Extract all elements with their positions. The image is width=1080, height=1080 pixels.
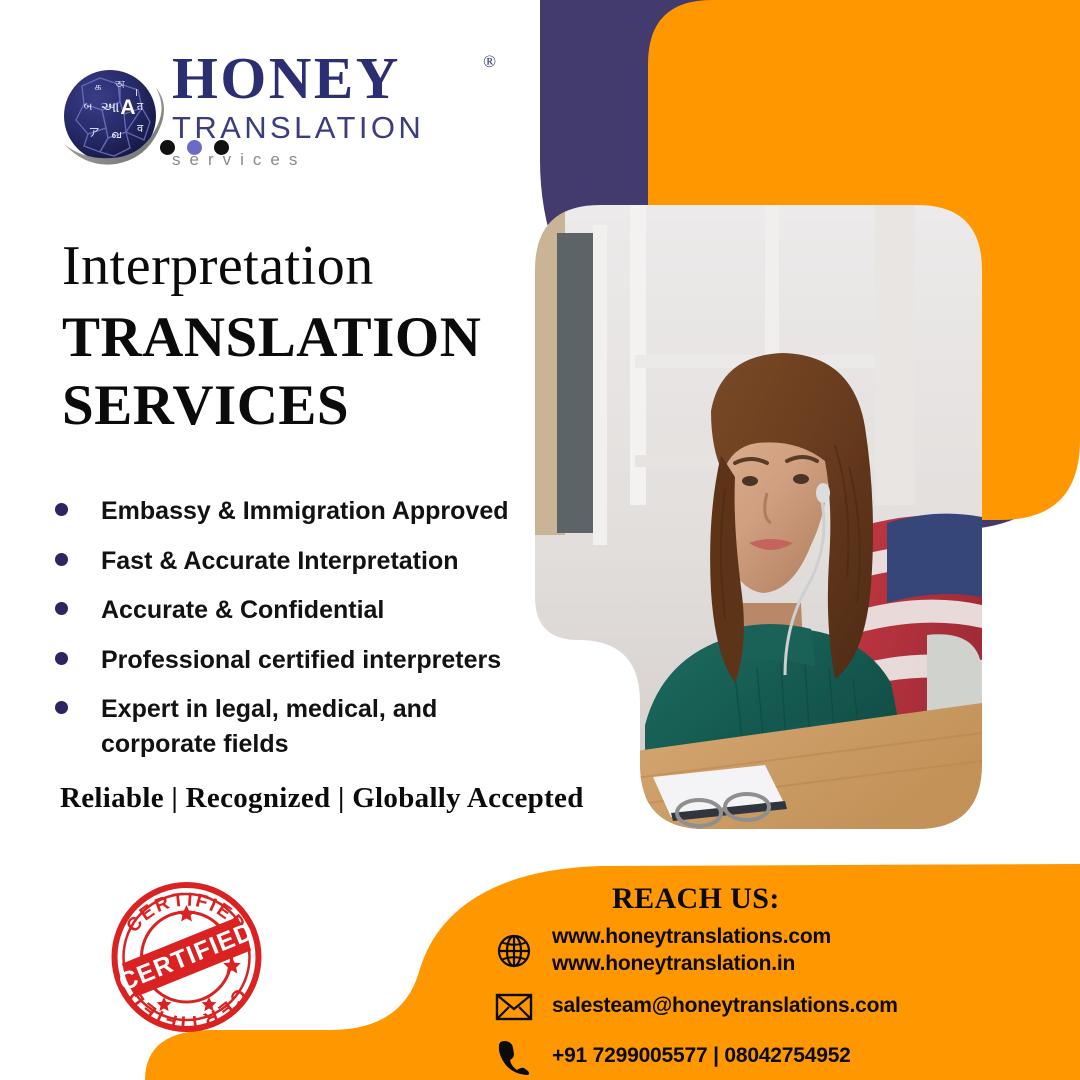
svg-text:க: க [94, 80, 101, 93]
tagline: Reliable | Recognized | Globally Accepte… [60, 782, 584, 815]
feature-text: Embassy & Immigration Approved [101, 494, 509, 529]
page-title: Interpretation TRANSLATION SERVICES [62, 236, 532, 439]
globe-icon [492, 930, 536, 972]
svg-text:A: A [120, 96, 135, 119]
headline-bold-lines: TRANSLATION SERVICES [62, 304, 532, 439]
svg-text:ア: ア [89, 126, 100, 139]
contact-rows: www.honeytranslations.com www.honeytrans… [492, 924, 1052, 1080]
list-item: Embassy & Immigration Approved [55, 494, 535, 529]
list-item: Fast & Accurate Interpretation [55, 544, 535, 579]
phone-values: +91 7299005577 | 08042754952 [552, 1043, 851, 1070]
bullet-dot-icon [55, 652, 68, 665]
poster-canvas: க অ । બ આ त ア ഖ व A HONEY ® TRANSLATION … [0, 0, 1080, 1080]
list-item: Professional certified interpreters [55, 643, 535, 678]
brand-name-primary: HONEY [172, 48, 401, 108]
website-values: www.honeytranslations.com www.honeytrans… [552, 924, 831, 978]
phone-line-1[interactable]: +91 7299005577 | 08042754952 [552, 1043, 851, 1070]
email-line-1[interactable]: salesteam@honeytranslations.com [552, 993, 898, 1020]
headline-script-line: Interpretation [62, 236, 532, 296]
list-item: Accurate & Confidential [55, 593, 535, 628]
feature-text: Professional certified interpreters [101, 643, 501, 678]
contact-row-email[interactable]: salesteam@honeytranslations.com [492, 986, 1052, 1028]
svg-text:व: व [137, 122, 144, 135]
bullet-dot-icon [55, 503, 68, 516]
website-line-1[interactable]: www.honeytranslations.com [552, 924, 831, 951]
svg-text:આ: આ [100, 98, 119, 116]
globe-languages-icon: க অ । બ આ त ア ഖ व A [52, 52, 174, 174]
svg-text:બ: બ [84, 100, 93, 113]
headline-line-2: SERVICES [62, 372, 532, 439]
contact-title: REACH US: [612, 882, 780, 916]
contact-row-phone[interactable]: +91 7299005577 | 08042754952 [492, 1036, 1052, 1078]
svg-text:অ: অ [114, 78, 125, 91]
feature-list: Embassy & Immigration Approved Fast & Ac… [55, 494, 535, 776]
bullet-dot-icon [55, 602, 68, 615]
list-item: Expert in legal, medical, and corporate … [55, 692, 535, 761]
headline-line-1: TRANSLATION [62, 304, 532, 371]
envelope-icon [492, 986, 536, 1028]
website-line-2[interactable]: www.honeytranslation.in [552, 951, 831, 978]
svg-text:ഖ: ഖ [111, 128, 122, 141]
bullet-dot-icon [55, 553, 68, 566]
registered-mark-icon: ® [483, 52, 496, 72]
feature-text: Fast & Accurate Interpretation [101, 544, 458, 579]
phone-icon [492, 1036, 536, 1078]
contact-row-website[interactable]: www.honeytranslations.com www.honeytrans… [492, 924, 1052, 978]
hero-photo-image [535, 205, 982, 829]
dot-black-left [160, 140, 175, 155]
feature-text: Accurate & Confidential [101, 593, 384, 628]
logo-dot-separator [160, 140, 229, 155]
feature-text: Expert in legal, medical, and corporate … [101, 692, 461, 761]
contact-panel: REACH US: www.honeytranslations.com www [400, 860, 1080, 1080]
brand-logo[interactable]: க অ । બ આ त ア ഖ व A HONEY ® TRANSLATION … [52, 46, 472, 216]
dot-purple-middle [187, 140, 202, 155]
dot-black-right [214, 140, 229, 155]
svg-text:त: त [137, 100, 144, 113]
certified-stamp-icon: CERTIFIED CERTIFIED CERTIFIED [104, 873, 269, 1038]
email-values: salesteam@honeytranslations.com [552, 993, 898, 1020]
bullet-dot-icon [55, 701, 68, 714]
hero-photo [535, 205, 982, 829]
